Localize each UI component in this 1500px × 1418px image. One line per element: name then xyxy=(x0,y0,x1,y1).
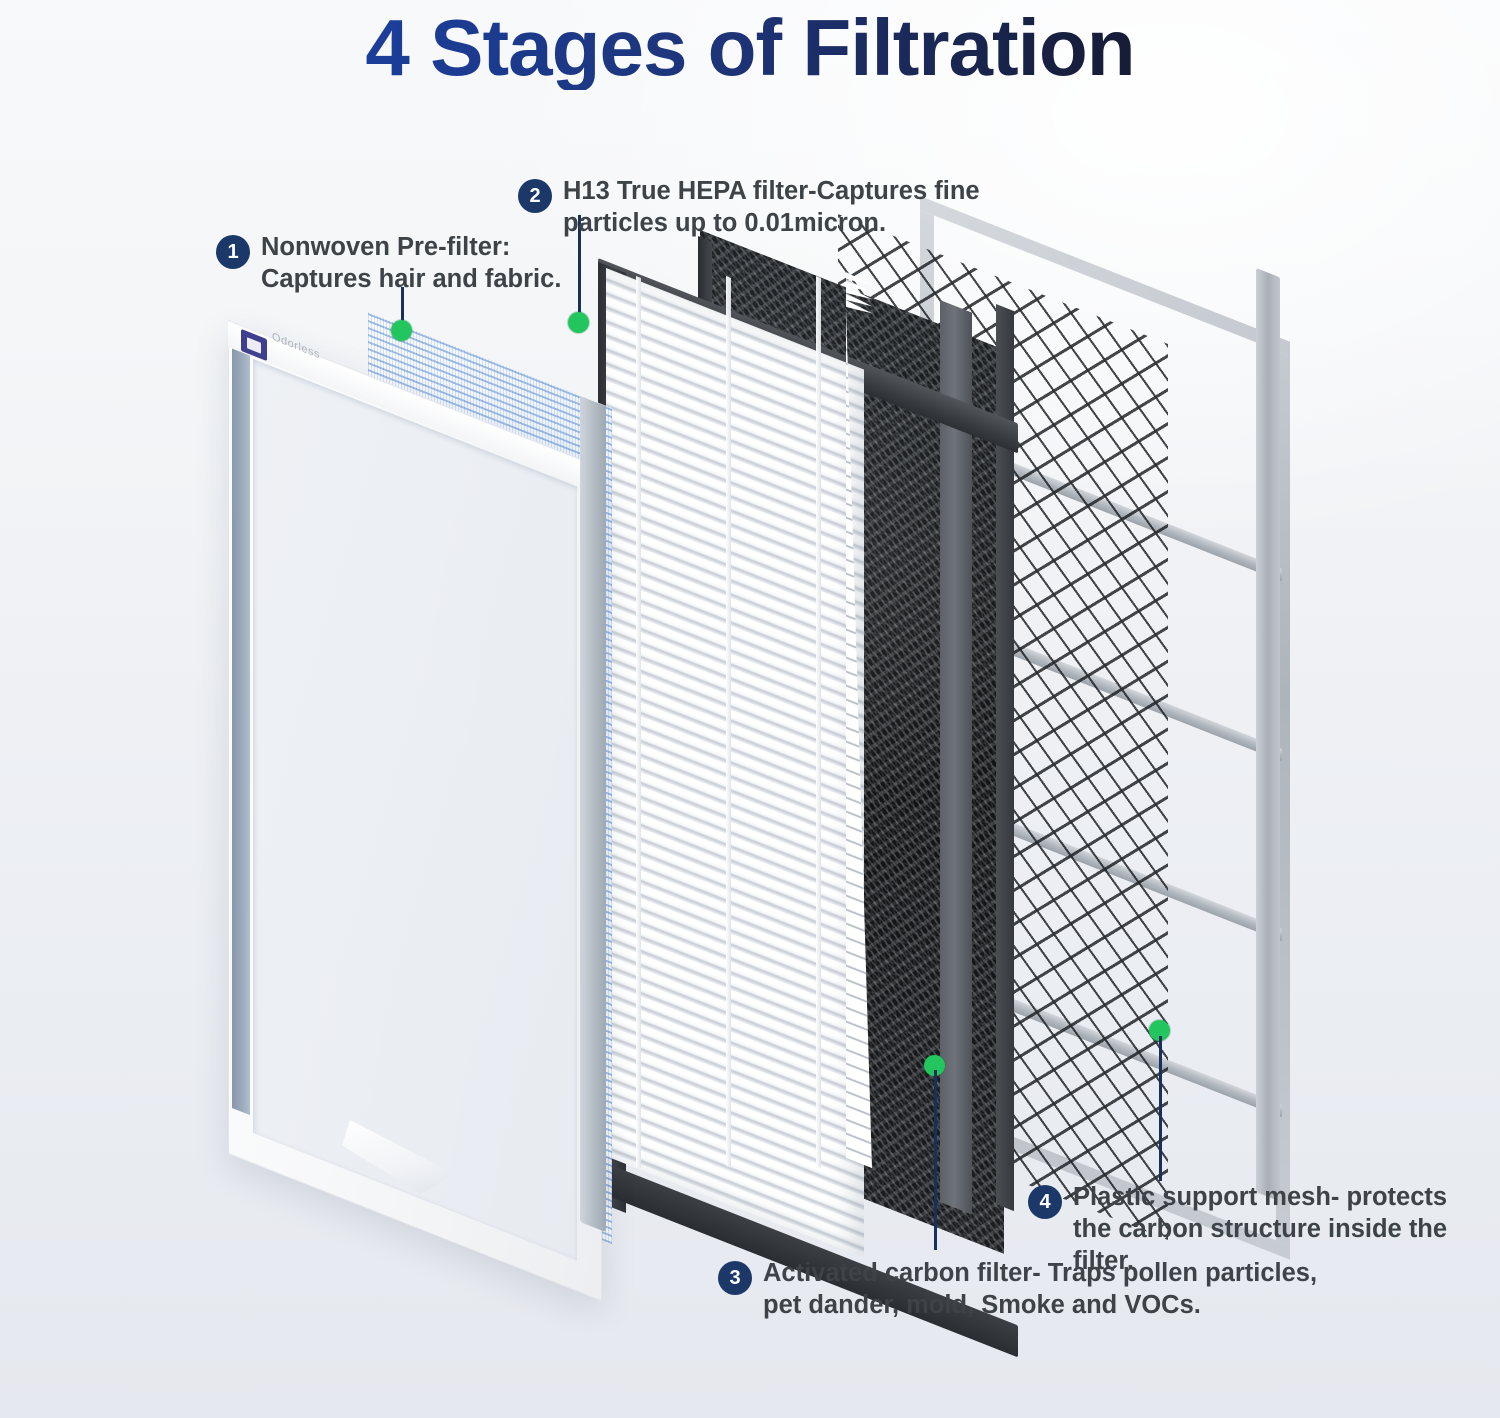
callout-1-badge: 1 xyxy=(216,235,250,269)
green-dot-marker-1 xyxy=(391,320,412,341)
callout-4-text: Plastic support mesh- protects the carbo… xyxy=(1073,1182,1500,1278)
callout-2-badge: 2 xyxy=(518,179,552,213)
green-dot-marker-2 xyxy=(568,312,589,333)
prefilter-frame-left-edge xyxy=(232,348,250,1115)
prefilter-frame-right-rail xyxy=(580,396,606,1232)
brand-logo-glyph xyxy=(247,337,261,354)
hepa-support-rib xyxy=(726,276,731,1168)
hepa-pleated-media xyxy=(606,268,864,1258)
leader-line-4 xyxy=(1159,1036,1162,1181)
hepa-support-rib xyxy=(816,276,821,1168)
callout-4[interactable]: 4 Plastic support mesh- protects the car… xyxy=(1028,1182,1500,1278)
callout-1[interactable]: 1 Nonwoven Pre-filter: Captures hair and… xyxy=(216,232,561,296)
callout-1-text: Nonwoven Pre-filter: Captures hair and f… xyxy=(261,232,561,296)
page-title: 4 Stages of Filtration xyxy=(0,6,1500,90)
carbon-filter-divider-bar xyxy=(940,300,972,1215)
hepa-support-rib xyxy=(636,276,641,1168)
callout-2-text: H13 True HEPA filter-Captures fine parti… xyxy=(563,176,980,240)
support-frame-outer-rail xyxy=(1256,268,1280,1201)
callout-4-badge: 4 xyxy=(1028,1185,1062,1219)
leader-line-3 xyxy=(934,1070,937,1250)
callout-3-badge: 3 xyxy=(718,1261,752,1295)
infographic-canvas: 4 Stages of Filtration xyxy=(0,0,1500,1418)
callout-2[interactable]: 2 H13 True HEPA filter-Captures fine par… xyxy=(518,176,980,240)
